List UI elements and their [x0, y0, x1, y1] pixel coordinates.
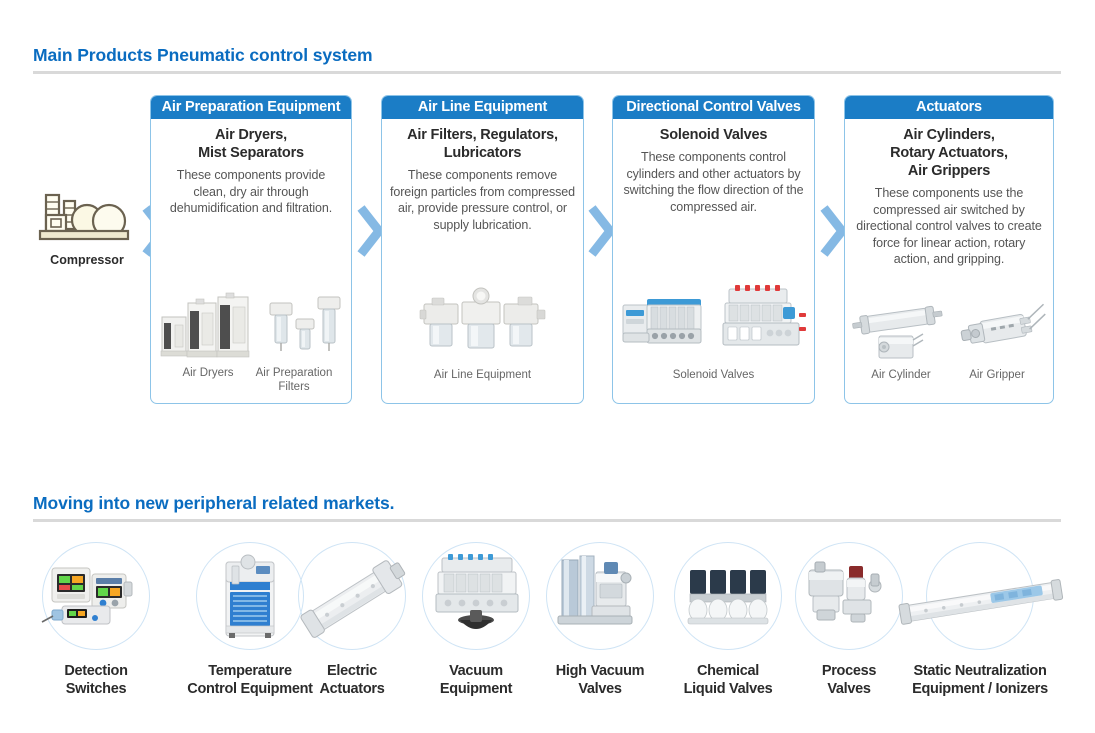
- section-heading-main-products: Main Products Pneumatic control system: [33, 44, 1061, 74]
- chevron-right-icon: [357, 205, 383, 257]
- card-subtitle-line: Lubricators: [390, 144, 575, 162]
- pneumatic-flow-diagram: Compressor Air Preparation Equipment Air…: [0, 95, 1095, 415]
- page-title: Main Products Pneumatic control system: [33, 44, 1061, 66]
- chemical-liquid-valves-icon: [668, 548, 788, 648]
- product-caption: Air Cylinder: [853, 368, 949, 382]
- card-title-bar: Air Line Equipment: [382, 96, 583, 119]
- air-cylinder-photo: [851, 298, 947, 362]
- air-dryers-photo: [160, 289, 252, 361]
- card-description: These components provide clean, dry air …: [159, 167, 343, 217]
- market-label-line: Actuators: [300, 680, 404, 698]
- card-captions: Air Cylinder Air Gripper: [845, 368, 1053, 382]
- card-subtitle-line: Solenoid Valves: [621, 126, 806, 144]
- card-subtitle: Air Dryers, Mist Separators: [159, 126, 343, 162]
- card-air-preparation-equipment[interactable]: Air Preparation Equipment Air Dryers, Mi…: [150, 95, 352, 404]
- card-captions: Solenoid Valves: [613, 368, 814, 382]
- market-label-line: Switches: [34, 680, 158, 698]
- market-label-line: High Vacuum: [543, 662, 657, 680]
- market-label: Static Neutralization Equipment / Ionize…: [898, 662, 1062, 698]
- market-label: High Vacuum Valves: [543, 662, 657, 698]
- process-valves-icon: [789, 548, 909, 648]
- card-subtitle-line: Rotary Actuators,: [853, 144, 1045, 162]
- card-captions: Air Dryers Air Preparation Filters: [151, 366, 351, 394]
- section-heading-peripheral-markets: Moving into new peripheral related marke…: [33, 492, 1061, 522]
- card-subtitle-line: Air Grippers: [853, 162, 1045, 180]
- market-label-line: Detection: [34, 662, 158, 680]
- market-label-line: Equipment: [418, 680, 534, 698]
- air-gripper-photo: [955, 298, 1047, 362]
- card-product-images: [613, 266, 814, 351]
- card-description: These components use the compressed air …: [853, 185, 1045, 268]
- chevron-right-icon: [820, 205, 846, 257]
- card-subtitle-line: Mist Separators: [159, 144, 343, 162]
- peripheral-markets-row: Detection Switches Temperature Control E…: [0, 540, 1095, 730]
- card-captions: Air Line Equipment: [382, 368, 583, 382]
- flow-source-compressor: Compressor: [34, 187, 140, 267]
- card-subtitle-line: Air Dryers,: [159, 126, 343, 144]
- market-label: Electric Actuators: [300, 662, 404, 698]
- card-title-bar: Directional Control Valves: [613, 96, 814, 119]
- product-caption: Air Line Equipment: [434, 368, 531, 382]
- market-label: Process Valves: [797, 662, 901, 698]
- card-directional-control-valves[interactable]: Directional Control Valves Solenoid Valv…: [612, 95, 815, 404]
- market-label-line: Process: [797, 662, 901, 680]
- card-subtitle: Air Cylinders, Rotary Actuators, Air Gri…: [853, 126, 1045, 180]
- compressor-icon: [34, 187, 140, 249]
- air-line-equipment-photo: [418, 286, 548, 362]
- card-description: These components control cylinders and o…: [621, 149, 806, 215]
- section-title: Moving into new peripheral related marke…: [33, 492, 1061, 514]
- market-label-line: Liquid Valves: [664, 680, 792, 698]
- solenoid-valve-manifold-photo-left: [617, 283, 709, 351]
- card-actuators[interactable]: Actuators Air Cylinders, Rotary Actuator…: [844, 95, 1054, 404]
- card-subtitle-line: Air Cylinders,: [853, 126, 1045, 144]
- static-neutralization-icon: [895, 548, 1065, 648]
- card-subtitle: Air Filters, Regulators, Lubricators: [390, 126, 575, 162]
- heading-divider: [33, 519, 1061, 522]
- vacuum-equipment-icon: [416, 548, 536, 648]
- product-caption: Air Dryers: [165, 366, 251, 380]
- card-subtitle-line: Air Filters, Regulators,: [390, 126, 575, 144]
- market-label-line: Electric: [300, 662, 404, 680]
- card-air-line-equipment[interactable]: Air Line Equipment Air Filters, Regulato…: [381, 95, 584, 404]
- market-label: Vacuum Equipment: [418, 662, 534, 698]
- card-product-images: [151, 281, 351, 361]
- solenoid-valve-manifold-photo-right: [715, 283, 811, 351]
- market-label: Detection Switches: [34, 662, 158, 698]
- card-product-images: [382, 284, 583, 362]
- detection-switches-icon: [36, 548, 156, 648]
- air-preparation-filters-photo: [268, 289, 342, 361]
- market-label-line: Equipment / Ionizers: [898, 680, 1062, 698]
- market-label-line: Valves: [797, 680, 901, 698]
- high-vacuum-valves-icon: [540, 548, 660, 648]
- card-product-images: [845, 290, 1053, 362]
- product-caption: Air Preparation Filters: [251, 366, 337, 394]
- chevron-right-icon: [588, 205, 614, 257]
- product-caption: Air Gripper: [949, 368, 1045, 382]
- compressor-label: Compressor: [34, 253, 140, 267]
- product-caption: Solenoid Valves: [644, 368, 784, 382]
- electric-actuators-icon: [292, 548, 412, 648]
- market-label-line: Static Neutralization: [898, 662, 1062, 680]
- market-label-line: Chemical: [664, 662, 792, 680]
- card-title-bar: Air Preparation Equipment: [151, 96, 351, 119]
- market-label-line: Vacuum: [418, 662, 534, 680]
- card-title-bar: Actuators: [845, 96, 1053, 119]
- heading-divider: [33, 71, 1061, 74]
- market-label: Chemical Liquid Valves: [664, 662, 792, 698]
- card-description: These components remove foreign particle…: [390, 167, 575, 233]
- market-label-line: Valves: [543, 680, 657, 698]
- card-subtitle: Solenoid Valves: [621, 126, 806, 144]
